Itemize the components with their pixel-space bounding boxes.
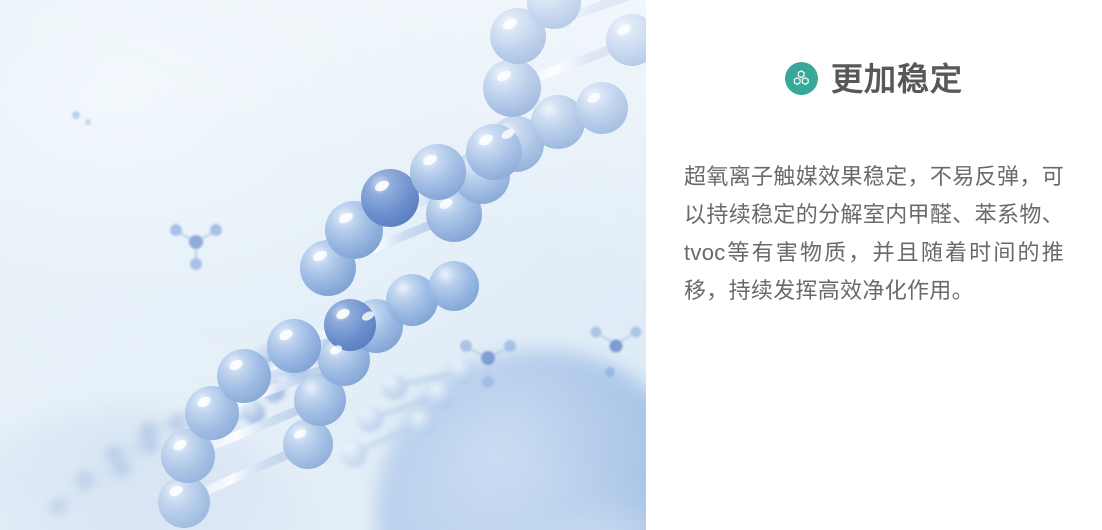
feature-headline: 更加稳定	[646, 62, 1102, 95]
feature-panel-stage: 更加稳定 超氧离子触媒效果稳定，不易反弹，可以持续稳定的分解室内甲醛、苯系物、t…	[0, 0, 1102, 530]
product-visual-image	[0, 0, 646, 530]
floating-molecule-cluster-c	[591, 327, 642, 378]
floating-molecule-cluster-a	[170, 224, 222, 270]
dna-helix-illustration	[0, 0, 646, 530]
page-title: 更加稳定	[831, 63, 963, 95]
feature-text-panel: 更加稳定 超氧离子触媒效果稳定，不易反弹，可以持续稳定的分解室内甲醛、苯系物、t…	[646, 0, 1102, 530]
helix-spheres-front	[158, 0, 581, 528]
sphere-highlights	[168, 17, 632, 499]
floating-molecule-cluster-d	[72, 111, 91, 125]
molecule-hexagons-icon	[785, 62, 818, 95]
helix-main	[158, 0, 646, 528]
feature-description: 超氧离子触媒效果稳定，不易反弹，可以持续稳定的分解室内甲醛、苯系物、tvoc等有…	[684, 158, 1064, 310]
